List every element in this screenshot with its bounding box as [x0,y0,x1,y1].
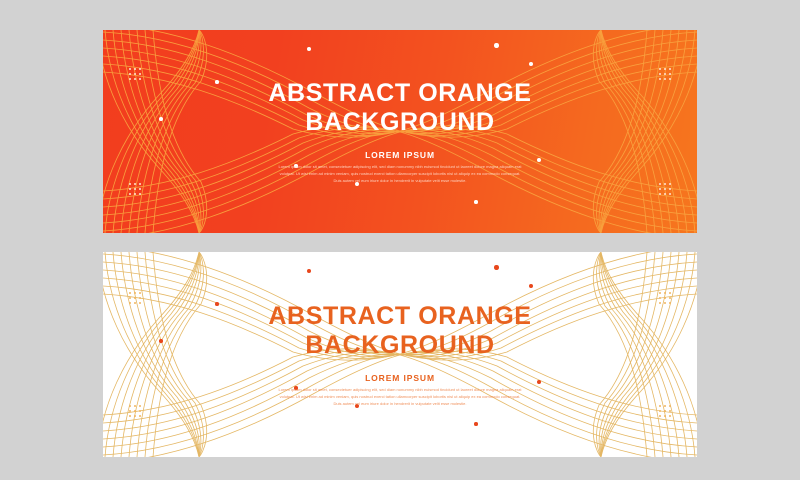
orange-banner-title: ABSTRACT ORANGE BACKGROUND [268,79,531,136]
poster-canvas: ABSTRACT ORANGE BACKGROUND LOREM IPSUM L… [0,0,800,480]
title-line-2: BACKGROUND [268,331,531,360]
title-line-1: ABSTRACT ORANGE [268,79,531,107]
orange-banner-subtitle: LOREM IPSUM [365,150,435,160]
title-line-2: BACKGROUND [268,108,531,137]
white-banner-body: Lorem ipsum dolor sit amet, consectetuer… [277,386,523,407]
orange-banner-content: ABSTRACT ORANGE BACKGROUND LOREM IPSUM L… [103,30,697,233]
orange-banner: ABSTRACT ORANGE BACKGROUND LOREM IPSUM L… [103,30,697,233]
white-banner: ABSTRACT ORANGE BACKGROUND LOREM IPSUM L… [103,252,697,457]
title-line-1: ABSTRACT ORANGE [268,302,531,330]
white-banner-title: ABSTRACT ORANGE BACKGROUND [268,302,531,359]
orange-banner-body: Lorem ipsum dolor sit amet, consectetuer… [277,163,523,184]
white-banner-subtitle: LOREM IPSUM [365,373,435,383]
white-banner-content: ABSTRACT ORANGE BACKGROUND LOREM IPSUM L… [103,252,697,457]
